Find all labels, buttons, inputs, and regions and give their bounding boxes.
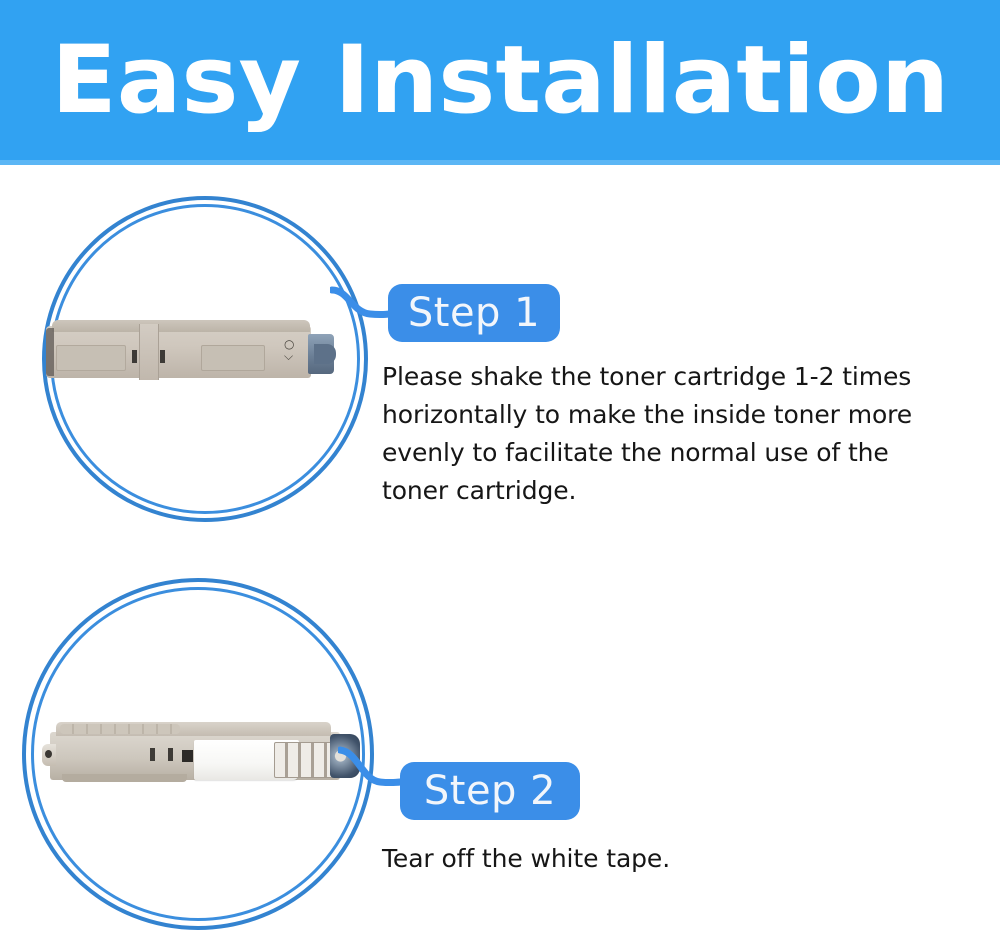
page-title: Easy Installation — [51, 31, 949, 131]
cartridge-clip-left — [150, 748, 155, 761]
cartridge-panel-right — [201, 345, 265, 371]
step-2-description: Tear off the white tape. — [382, 840, 942, 878]
cartridge-gear-marking: ○⌵ — [284, 338, 300, 370]
cartridge-top-shell — [52, 320, 310, 332]
step-2-badge-label: Step 2 — [424, 768, 556, 814]
cartridge-panel-left — [56, 345, 126, 371]
cartridge-clip-right — [160, 350, 165, 363]
toner-cartridge-white-tape-illustration — [42, 718, 362, 788]
toner-cartridge-shake-illustration: ○⌵ — [46, 318, 336, 380]
header-banner: Easy Installation — [0, 0, 1000, 160]
step-1-badge-label: Step 1 — [408, 290, 540, 336]
cartridge-left-notch — [46, 328, 54, 376]
header-underline — [0, 160, 1000, 165]
step-1-description: Please shake the toner cartridge 1-2 tim… — [382, 358, 942, 510]
cartridge-clip-right — [168, 748, 173, 761]
step-2-badge[interactable]: Step 2 — [400, 762, 580, 820]
cartridge-clip-left — [132, 350, 137, 363]
cartridge-center-strap — [139, 324, 159, 380]
step-1-badge[interactable]: Step 1 — [388, 284, 560, 342]
cartridge-left-hole — [45, 750, 52, 758]
cartridge-end-tab — [314, 344, 336, 364]
cartridge-top-ridges — [60, 724, 180, 734]
cartridge-sensor-square — [182, 750, 193, 762]
cartridge-lower-lip — [62, 774, 187, 782]
cartridge-vents — [274, 742, 334, 778]
